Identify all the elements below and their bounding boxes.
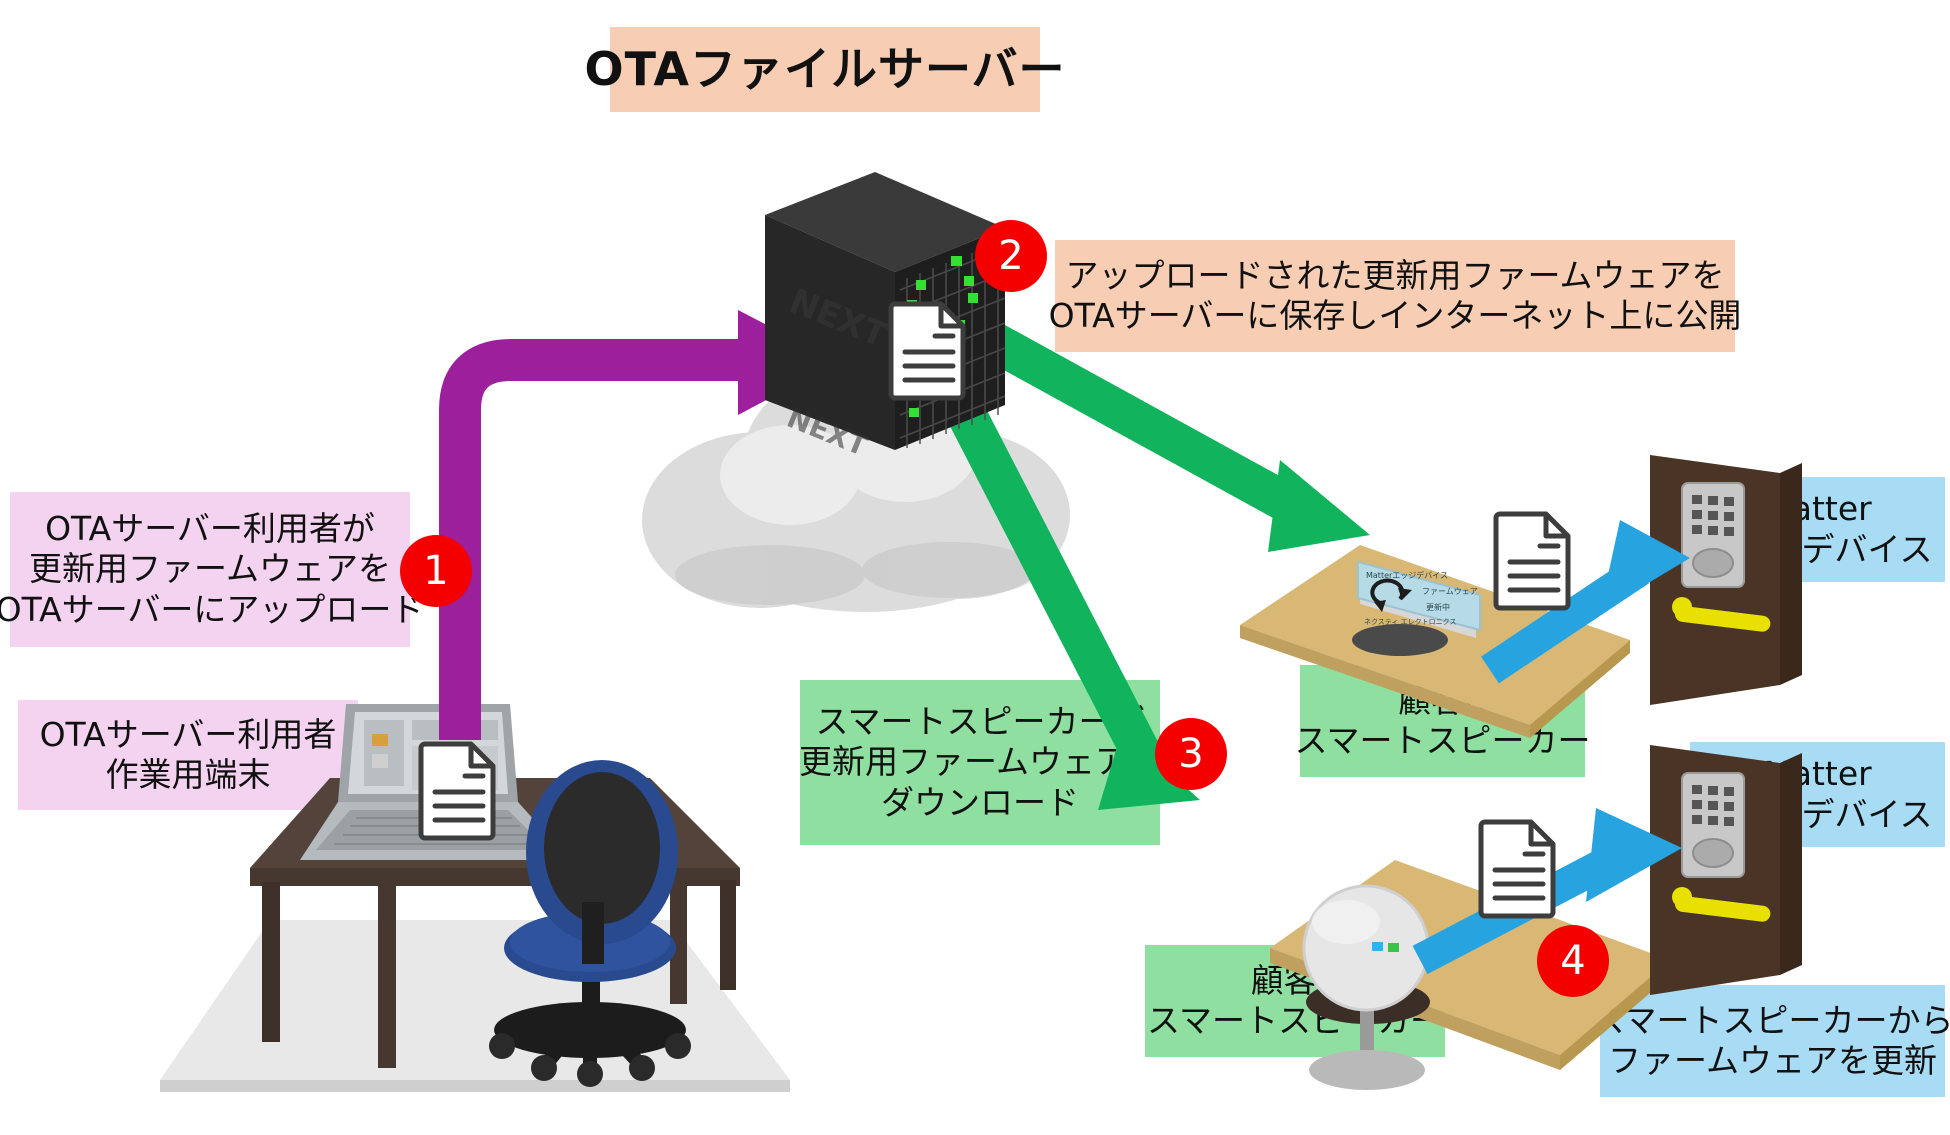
document-icon-customer-a: [1475, 818, 1561, 918]
step-badge-1-number: 1: [423, 548, 448, 594]
step-1-line-3: OTAサーバーにアップロード: [0, 590, 424, 630]
step-badge-1: 1: [400, 535, 472, 607]
diagram-title: OTAファイルサーバー: [610, 27, 1040, 112]
document-icon-server: [885, 300, 971, 400]
step-badge-4-number: 4: [1560, 938, 1585, 984]
diagram-canvas: OTAファイルサーバー: [0, 0, 1950, 1135]
step-2-line-1: アップロードされた更新用ファームウェアを: [1065, 256, 1724, 296]
diagram-title-text: OTAファイルサーバー: [584, 41, 1065, 97]
step-1-callout: OTAサーバー利用者が 更新用ファームウェアを OTAサーバーにアップロード: [10, 492, 410, 647]
step-badge-3-number: 3: [1178, 731, 1203, 777]
document-icon-customer-b: [1490, 510, 1576, 610]
step-badge-2: 2: [975, 220, 1047, 292]
step-badge-4: 4: [1537, 925, 1609, 997]
document-icon-laptop: [415, 740, 501, 840]
step-1-line-2: 更新用ファームウェアを: [29, 549, 391, 589]
tablet-line-3: 更新中: [1426, 602, 1450, 612]
step-1-line-1: OTAサーバー利用者が: [45, 509, 375, 549]
step-badge-3: 3: [1155, 718, 1227, 790]
step-badge-2-number: 2: [998, 233, 1023, 279]
